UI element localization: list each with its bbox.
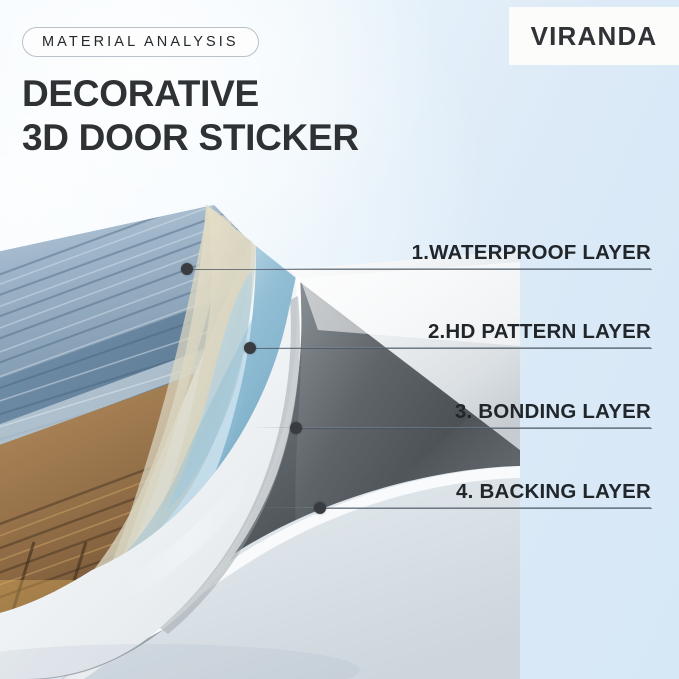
page-title: DECORATIVE 3D DOOR STICKER [22,72,359,160]
anchor-dot-hd-pattern-layer [244,342,256,354]
anchor-dot-waterproof-layer [181,263,193,275]
title-line-2: 3D DOOR STICKER [22,116,359,160]
callout-label: 3. BONDING LAYER [455,400,651,424]
title-line-1: DECORATIVE [22,73,259,114]
callout-backing-layer: 4. BACKING LAYER [251,480,651,508]
callout-waterproof-layer: 1.WATERPROOF LAYER [251,241,651,269]
callout-bonding-layer: 3. BONDING LAYER [251,400,651,428]
eyebrow-label: MATERIAL ANALYSIS [42,34,239,50]
brand-logo-box: VIRANDA [509,7,679,65]
leader-line-waterproof-layer [190,269,652,270]
callout-label: 2.HD PATTERN LAYER [428,320,651,344]
brand-name: VIRANDA [531,21,658,52]
callout-label: 4. BACKING LAYER [456,480,651,504]
poster-canvas: MATERIAL ANALYSIS DECORATIVE 3D DOOR STI… [0,0,679,679]
anchor-dot-bonding-layer [290,422,302,434]
anchor-dot-backing-layer [314,502,326,514]
callout-hd-pattern-layer: 2.HD PATTERN LAYER [251,320,651,348]
leader-line-hd-pattern-layer [253,348,652,349]
callout-label: 1.WATERPROOF LAYER [412,241,651,265]
eyebrow-badge: MATERIAL ANALYSIS [22,27,259,57]
leader-line-backing-layer [323,508,652,509]
leader-line-bonding-layer [299,428,652,429]
